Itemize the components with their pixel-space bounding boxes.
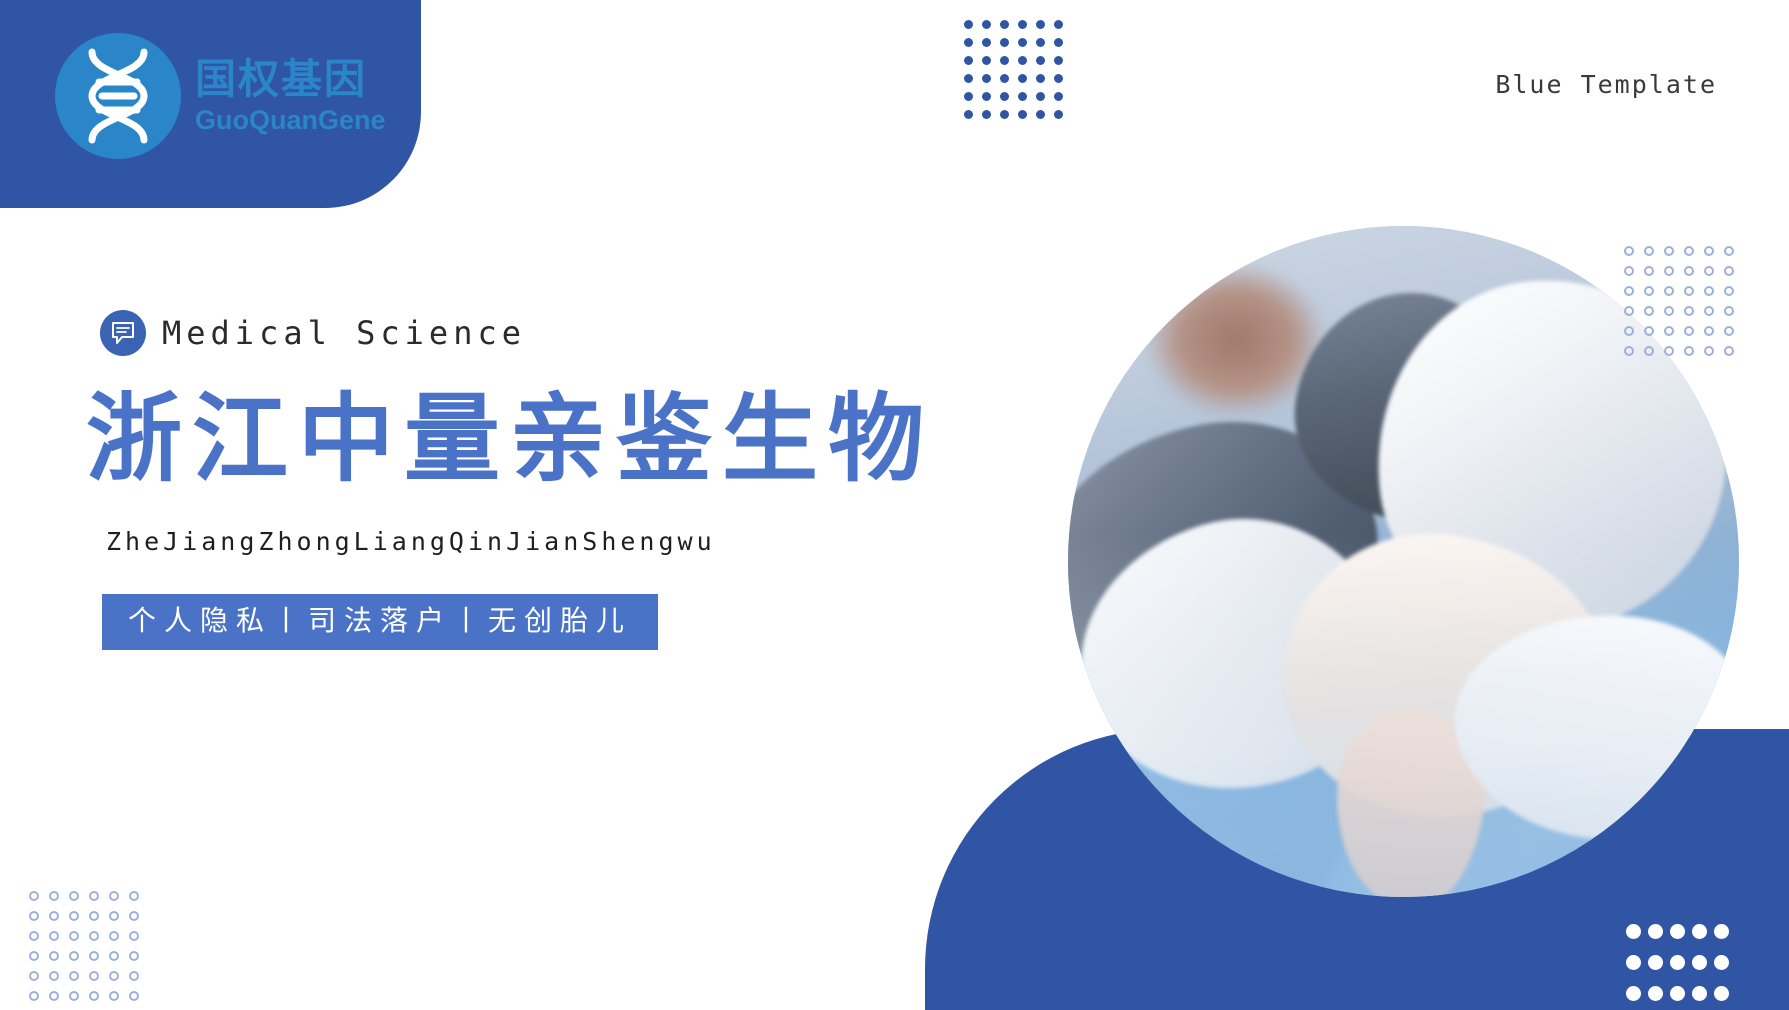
page-title: 浙江中量亲鉴生物 bbox=[86, 390, 934, 491]
decor-dot bbox=[129, 971, 139, 981]
decor-dot bbox=[29, 991, 39, 1001]
decor-dot bbox=[1714, 986, 1729, 1001]
decor-dot bbox=[49, 971, 59, 981]
decor-dot bbox=[1000, 110, 1009, 119]
decor-dot bbox=[1054, 74, 1063, 83]
logo-text-group: 国权基因 GuoQuanGene bbox=[195, 59, 386, 134]
decor-dot bbox=[1624, 266, 1634, 276]
decor-dot bbox=[29, 931, 39, 941]
decor-dot bbox=[1054, 38, 1063, 47]
decor-dot bbox=[1624, 326, 1634, 336]
decor-dot bbox=[49, 951, 59, 961]
decor-dot bbox=[1692, 986, 1707, 1001]
dot-grid-bottom-left-decoration bbox=[26, 888, 142, 1004]
decor-dot bbox=[1624, 286, 1634, 296]
decor-dot bbox=[964, 92, 973, 101]
decor-dot bbox=[1648, 924, 1663, 939]
decor-dot bbox=[1704, 246, 1714, 256]
dna-helix-icon bbox=[55, 33, 181, 159]
decor-dot bbox=[129, 911, 139, 921]
decor-dot bbox=[1670, 924, 1685, 939]
decor-dot bbox=[1000, 74, 1009, 83]
decor-dot bbox=[1684, 266, 1694, 276]
decor-dot bbox=[1036, 110, 1045, 119]
decor-dot bbox=[69, 911, 79, 921]
decor-dot bbox=[89, 951, 99, 961]
decor-dot bbox=[1018, 74, 1027, 83]
decor-dot bbox=[89, 971, 99, 981]
decor-dot bbox=[1714, 955, 1729, 970]
speech-bubble-icon bbox=[100, 310, 146, 356]
decor-dot bbox=[1664, 246, 1674, 256]
services-badge: 个人隐私丨司法落户丨无创胎儿 bbox=[102, 594, 658, 650]
decor-dot bbox=[129, 991, 139, 1001]
decor-dot bbox=[1684, 306, 1694, 316]
decor-dot bbox=[89, 931, 99, 941]
decor-dot bbox=[1684, 326, 1694, 336]
decor-dot bbox=[1626, 924, 1641, 939]
decor-dot bbox=[1704, 286, 1714, 296]
decor-dot bbox=[1648, 986, 1663, 1001]
decor-dot bbox=[1644, 306, 1654, 316]
decor-dot bbox=[1054, 92, 1063, 101]
decor-dot bbox=[1000, 20, 1009, 29]
decor-dot bbox=[1692, 955, 1707, 970]
decor-dot bbox=[1724, 326, 1734, 336]
decor-dot bbox=[1704, 266, 1714, 276]
decor-dot bbox=[109, 931, 119, 941]
decor-dot bbox=[69, 951, 79, 961]
decor-dot bbox=[69, 971, 79, 981]
decor-dot bbox=[1724, 346, 1734, 356]
decor-dot bbox=[1036, 38, 1045, 47]
decor-dot bbox=[49, 891, 59, 901]
decor-dot bbox=[1626, 986, 1641, 1001]
decor-dot bbox=[69, 931, 79, 941]
decor-dot bbox=[109, 971, 119, 981]
decor-dot bbox=[1000, 38, 1009, 47]
decor-dot bbox=[1664, 346, 1674, 356]
decor-dot bbox=[1644, 346, 1654, 356]
eyebrow-group: Medical Science bbox=[100, 310, 526, 356]
slide-canvas: 国权基因 GuoQuanGene Blue Template Medical S… bbox=[0, 0, 1789, 1010]
decor-dot bbox=[1000, 92, 1009, 101]
decor-dot bbox=[982, 74, 991, 83]
decor-dot bbox=[109, 911, 119, 921]
decor-dot bbox=[1018, 92, 1027, 101]
decor-dot bbox=[89, 991, 99, 1001]
decor-dot bbox=[1018, 110, 1027, 119]
decor-dot bbox=[69, 891, 79, 901]
dot-grid-top-decoration bbox=[962, 18, 1066, 122]
decor-dot bbox=[49, 911, 59, 921]
decor-dot bbox=[109, 991, 119, 1001]
template-label: Blue Template bbox=[1495, 70, 1717, 99]
decor-dot bbox=[982, 20, 991, 29]
decor-dot bbox=[1670, 955, 1685, 970]
decor-dot bbox=[1054, 56, 1063, 65]
decor-dot bbox=[1670, 986, 1685, 1001]
decor-dot bbox=[29, 971, 39, 981]
decor-dot bbox=[1054, 20, 1063, 29]
decor-dot bbox=[1724, 266, 1734, 276]
decor-dot bbox=[1724, 246, 1734, 256]
decor-dot bbox=[1644, 246, 1654, 256]
decor-dot bbox=[1018, 38, 1027, 47]
decor-dot bbox=[1684, 246, 1694, 256]
decor-dot bbox=[1036, 20, 1045, 29]
decor-dot bbox=[1724, 286, 1734, 296]
logo-name-en: GuoQuanGene bbox=[195, 107, 386, 134]
decor-dot bbox=[89, 911, 99, 921]
decor-dot bbox=[69, 991, 79, 1001]
decor-dot bbox=[129, 891, 139, 901]
decor-dot bbox=[1664, 286, 1674, 296]
decor-dot bbox=[1624, 246, 1634, 256]
decor-dot bbox=[1054, 110, 1063, 119]
decor-dot bbox=[982, 38, 991, 47]
header-blue-panel: 国权基因 GuoQuanGene bbox=[0, 0, 421, 208]
decor-dot bbox=[982, 56, 991, 65]
decor-dot bbox=[29, 951, 39, 961]
decor-dot bbox=[1704, 346, 1714, 356]
decor-dot bbox=[982, 110, 991, 119]
decor-dot bbox=[129, 931, 139, 941]
decor-dot bbox=[1036, 92, 1045, 101]
decor-dot bbox=[49, 991, 59, 1001]
decor-dot bbox=[964, 74, 973, 83]
decor-dot bbox=[49, 931, 59, 941]
decor-dot bbox=[1018, 56, 1027, 65]
decor-dot bbox=[964, 38, 973, 47]
services-badge-text: 个人隐私丨司法落户丨无创胎儿 bbox=[128, 605, 632, 636]
decor-dot bbox=[1624, 346, 1634, 356]
decor-dot bbox=[1684, 286, 1694, 296]
decor-dot bbox=[1626, 955, 1641, 970]
decor-dot bbox=[982, 92, 991, 101]
decor-dot bbox=[1684, 346, 1694, 356]
logo-name-cn: 国权基因 bbox=[195, 59, 386, 100]
decor-dot bbox=[29, 911, 39, 921]
decor-dot bbox=[1692, 924, 1707, 939]
decor-dot bbox=[1036, 56, 1045, 65]
decor-dot bbox=[109, 891, 119, 901]
decor-dot bbox=[1714, 924, 1729, 939]
decor-dot bbox=[1648, 955, 1663, 970]
decor-dot bbox=[964, 20, 973, 29]
decor-dot bbox=[109, 951, 119, 961]
decor-dot bbox=[129, 951, 139, 961]
decor-dot bbox=[1704, 326, 1714, 336]
decor-dot bbox=[89, 891, 99, 901]
decor-dot bbox=[1664, 306, 1674, 316]
decor-dot bbox=[1624, 306, 1634, 316]
decor-dot bbox=[1644, 266, 1654, 276]
decor-dot bbox=[1724, 306, 1734, 316]
decor-dot bbox=[1644, 286, 1654, 296]
company-logo[interactable]: 国权基因 GuoQuanGene bbox=[55, 33, 386, 159]
decor-dot bbox=[1644, 326, 1654, 336]
decor-dot bbox=[1036, 74, 1045, 83]
decor-dot bbox=[964, 56, 973, 65]
dot-grid-bottom-right-decoration bbox=[1623, 920, 1733, 1010]
dot-grid-right-decoration bbox=[1621, 243, 1737, 359]
decor-dot bbox=[1704, 306, 1714, 316]
page-title-pinyin: ZheJiangZhongLiangQinJianShengwu bbox=[106, 527, 716, 556]
decor-dot bbox=[964, 110, 973, 119]
decor-dot bbox=[29, 891, 39, 901]
decor-dot bbox=[1000, 56, 1009, 65]
decor-dot bbox=[1018, 20, 1027, 29]
eyebrow-label: Medical Science bbox=[162, 314, 526, 352]
decor-dot bbox=[1664, 326, 1674, 336]
decor-dot bbox=[1664, 266, 1674, 276]
